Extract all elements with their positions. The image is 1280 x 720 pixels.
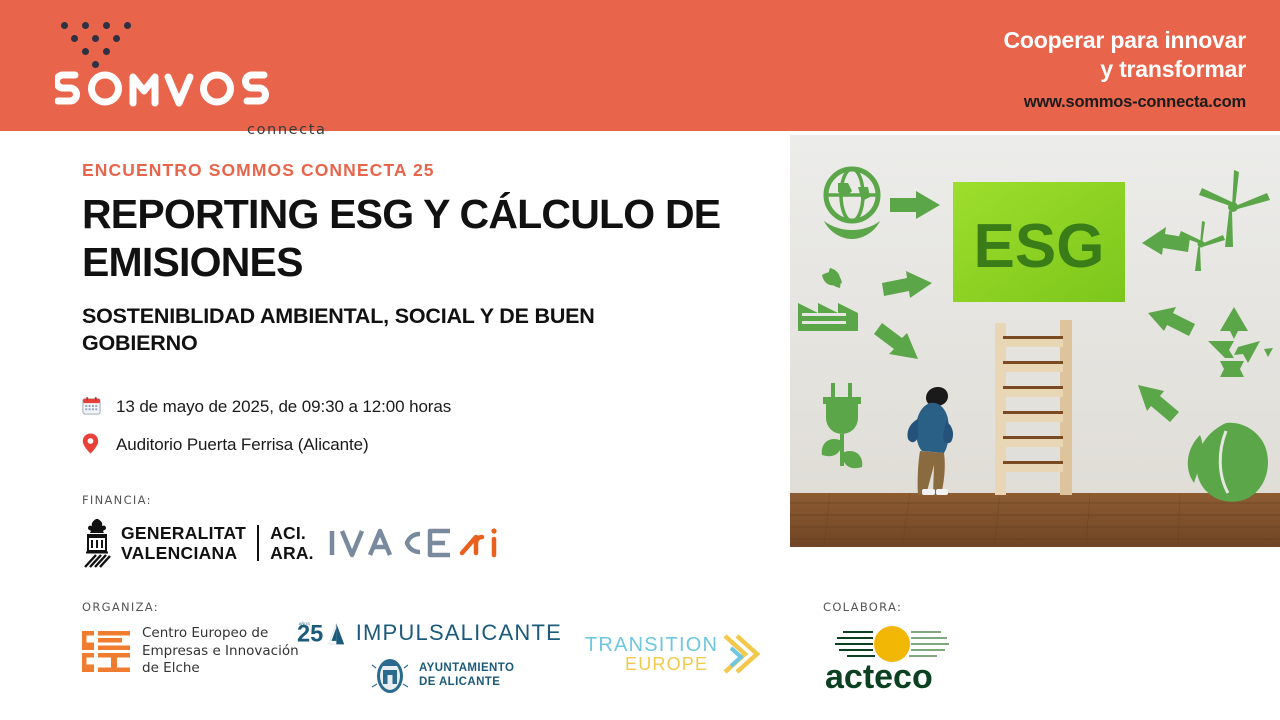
sommos-wordmark-icon: [55, 70, 270, 112]
ceei-name: Centro Europeo de Empresas e Innovación …: [142, 625, 299, 678]
acteco-logo: acteco: [823, 620, 963, 692]
transition-line-1: TRANSITION: [585, 634, 718, 656]
organiza-label: ORGANIZA:: [82, 600, 159, 614]
tagline-line-1: Cooperar para innovar: [826, 26, 1246, 55]
calendar-icon: [82, 396, 116, 419]
financia-label: FINANCIA:: [82, 493, 152, 507]
ayto-line-1: AYUNTAMIENTO: [419, 661, 514, 675]
transition-line-2: EUROPE: [625, 654, 708, 674]
location-pin-icon: [82, 433, 116, 458]
impulsalicante-top: 25 AÑOS IMPULSALICANTE: [297, 618, 562, 648]
generalitat-crest-icon: [80, 518, 114, 568]
ivace-logo: [328, 523, 528, 563]
ceei-line-2: Empresas e Innovación: [142, 643, 299, 661]
event-details: 13 de mayo de 2025, de 09:30 a 12:00 hor…: [82, 392, 702, 468]
generalitat-line-2: VALENCIANA: [121, 543, 246, 563]
ceei-line-3: de Elche: [142, 660, 299, 678]
impulsalicante-logo: 25 AÑOS IMPULSALICANTE AYUNT: [297, 618, 562, 696]
ceei-mark-icon: [80, 628, 132, 674]
sommos-logo: connecta: [55, 22, 295, 122]
colabora-label: COLABORA:: [823, 600, 902, 614]
ceei-line-1: Centro Europeo de: [142, 625, 299, 643]
acteco-sun-icon: [874, 626, 910, 662]
esg-photo: ESG: [790, 135, 1280, 547]
acteco-wordmark: acteco: [825, 658, 933, 692]
event-poster: connecta Cooperar para innovar y transfo…: [0, 0, 1280, 720]
ayuntamiento-alicante-logo: AYUNTAMIENTO DE ALICANTE: [369, 654, 562, 696]
financia-logos: GENERALITAT VALENCIANA ACI. ARA.: [80, 518, 528, 568]
ayuntamiento-crest-icon: [369, 654, 411, 696]
ayuntamiento-name: AYUNTAMIENTO DE ALICANTE: [419, 661, 514, 689]
event-overline: ENCUENTRO SOMMOS CONNECTA 25: [82, 160, 435, 181]
aci-line-1: ACI.: [270, 523, 314, 543]
header-tagline: Cooperar para innovar y transformar www.…: [826, 26, 1246, 112]
impuls-25-years-icon: 25 AÑOS: [297, 618, 348, 648]
website-url[interactable]: www.sommos-connecta.com: [826, 93, 1246, 112]
generalitat-valenciana-logo: GENERALITAT VALENCIANA: [121, 523, 246, 563]
aci-line-2: ARA.: [270, 543, 314, 563]
event-location: Auditorio Puerta Ferrisa (Alicante): [116, 435, 369, 455]
svg-text:AÑOS: AÑOS: [299, 621, 310, 626]
event-date-row: 13 de mayo de 2025, de 09:30 a 12:00 hor…: [82, 392, 702, 422]
aci-ara-logo: ACI. ARA.: [270, 523, 314, 563]
esg-sticky-note: ESG: [953, 182, 1125, 302]
esg-note-text: ESG: [974, 212, 1105, 281]
impulsalicante-name: IMPULSALICANTE: [356, 620, 562, 646]
sommos-dot-triangle-icon: [61, 22, 191, 68]
ceei-logo: Centro Europeo de Empresas e Innovación …: [80, 625, 299, 678]
page-title: REPORTING ESG Y CÁLCULO DE EMISIONES: [82, 190, 732, 286]
esg-photo-illustration: ESG: [790, 135, 1280, 547]
generalitat-line-1: GENERALITAT: [121, 523, 246, 543]
transition-europe-logo: TRANSITION EUROPE: [585, 630, 775, 678]
header-banner: connecta Cooperar para innovar y transfo…: [0, 0, 1280, 131]
logo-divider: [257, 525, 259, 561]
acteco-rays-icon: [835, 632, 875, 656]
sommos-logo-subtitle: connecta: [247, 122, 327, 138]
tagline-line-2: y transformar: [826, 55, 1246, 84]
event-date: 13 de mayo de 2025, de 09:30 a 12:00 hor…: [116, 397, 451, 417]
event-location-row: Auditorio Puerta Ferrisa (Alicante): [82, 430, 702, 460]
ayto-line-2: DE ALICANTE: [419, 675, 514, 689]
event-subtitle: SOSTENIBLIDAD AMBIENTAL, SOCIAL Y DE BUE…: [82, 303, 682, 357]
